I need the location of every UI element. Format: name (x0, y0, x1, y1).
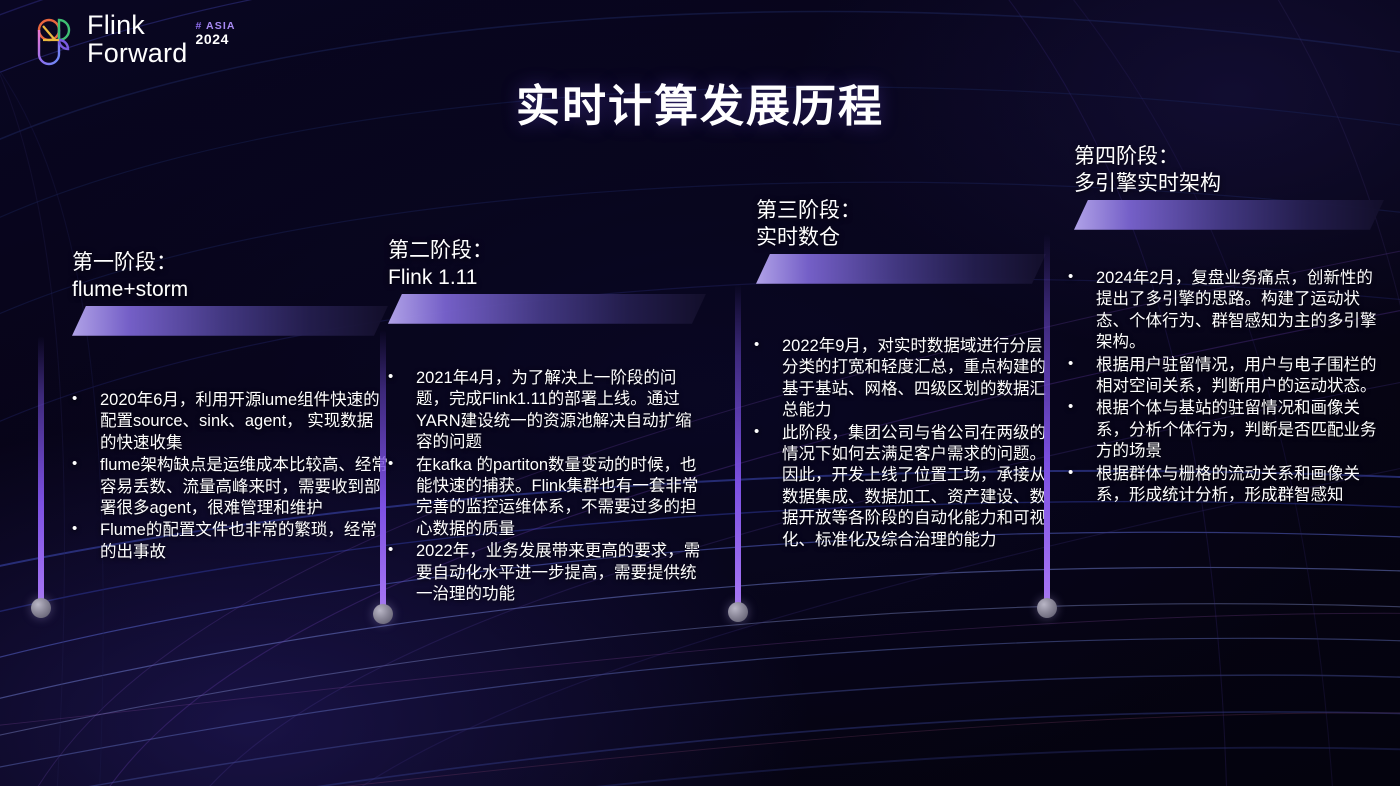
stage-3-heading: 第三阶段： 实时数仓 (756, 198, 1046, 252)
stage-2-timeline-line (380, 330, 386, 612)
stage-4-banner (1074, 200, 1384, 230)
brand-name-line1: Flink (87, 10, 145, 40)
stage-4-timeline-line (1044, 234, 1050, 606)
list-item: 根据群体与栅格的流动关系和画像关系，形成统计分析，形成群智感知 (1062, 464, 1384, 507)
list-item: 在kafka 的partiton数量变动的时候，也能快速的捕获。Flink集群也… (382, 455, 706, 541)
flink-squirrel-logo-icon (33, 14, 77, 66)
stage-3-timeline-line (735, 284, 741, 610)
stage-1-banner (72, 306, 388, 336)
stage-4-bullet-list: 2024年2月，复盘业务痛点，创新性的提出了多引擎的思路。构建了运动状态、个体行… (1062, 268, 1384, 507)
list-item: 2024年2月，复盘业务痛点，创新性的提出了多引擎的思路。构建了运动状态、个体行… (1062, 268, 1384, 354)
stage-3-banner (756, 254, 1046, 284)
stage-4-heading: 第四阶段： 多引擎实时架构 (1074, 144, 1384, 198)
stage-2-banner (388, 294, 706, 324)
stage-1-timeline-line (38, 336, 44, 606)
page-title: 实时计算发展历程 (0, 70, 1400, 134)
stage-column-1: 第一阶段： flume+storm 2020年6月，利用开源lume组件快速的配… (72, 250, 388, 564)
stage-3-bullet-list: 2022年9月，对实时数据域进行分层分类的打宽和轻度汇总，重点构建的基于基站、网… (748, 336, 1046, 551)
stage-2-timeline-dot (373, 604, 393, 624)
stage-1-heading: 第一阶段： flume+storm (72, 250, 388, 304)
list-item: 此阶段，集团公司与省公司在两级的情况下如何去满足客户需求的问题。因此，开发上线了… (748, 423, 1046, 552)
list-item: Flume的配置文件也非常的繁琐，经常的出事故 (66, 520, 388, 563)
brand-name: Flink Forward (87, 12, 187, 67)
stage-column-3: 第三阶段： 实时数仓 2022年9月，对实时数据域进行分层分类的打宽和轻度汇总，… (756, 198, 1046, 552)
event-badge-year: 2024 (195, 32, 235, 47)
stage-column-4: 第四阶段： 多引擎实时架构 2024年2月，复盘业务痛点，创新性的提出了多引擎的… (1074, 144, 1384, 508)
stage-1-bullet-list: 2020年6月，利用开源lume组件快速的配置source、sink、agent… (66, 390, 388, 564)
brand-logo: Flink Forward # ASIA 2024 (33, 12, 236, 67)
event-badge: # ASIA 2024 (195, 20, 235, 47)
stage-4-timeline-dot (1037, 598, 1057, 618)
stage-2-bullet-list: 2021年4月，为了解决上一阶段的问题，完成Flink1.11的部署上线。通过Y… (382, 368, 706, 606)
list-item: 根据个体与基站的驻留情况和画像关系，分析个体行为，判断是否匹配业务方的场景 (1062, 398, 1384, 462)
list-item: 2022年9月，对实时数据域进行分层分类的打宽和轻度汇总，重点构建的基于基站、网… (748, 336, 1046, 422)
slide-root: Flink Forward # ASIA 2024 实时计算发展历程 第一阶段：… (0, 0, 1400, 786)
list-item: 2022年，业务发展带来更高的要求，需要自动化水平进一步提高，需要提供统一治理的… (382, 541, 706, 605)
stage-2-heading: 第二阶段： Flink 1.11 (388, 238, 706, 292)
stage-1-timeline-dot (31, 598, 51, 618)
list-item: 2020年6月，利用开源lume组件快速的配置source、sink、agent… (66, 390, 388, 454)
stage-3-timeline-dot (728, 602, 748, 622)
stage-column-2: 第二阶段： Flink 1.11 2021年4月，为了解决上一阶段的问题，完成F… (388, 238, 706, 607)
list-item: 根据用户驻留情况，用户与电子围栏的相对空间关系，判断用户的运动状态。 (1062, 355, 1384, 398)
list-item: flume架构缺点是运维成本比较高、经常容易丢数、流量高峰来时，需要收到部署很多… (66, 455, 388, 519)
list-item: 2021年4月，为了解决上一阶段的问题，完成Flink1.11的部署上线。通过Y… (382, 368, 706, 454)
brand-name-line2: Forward (87, 40, 187, 68)
